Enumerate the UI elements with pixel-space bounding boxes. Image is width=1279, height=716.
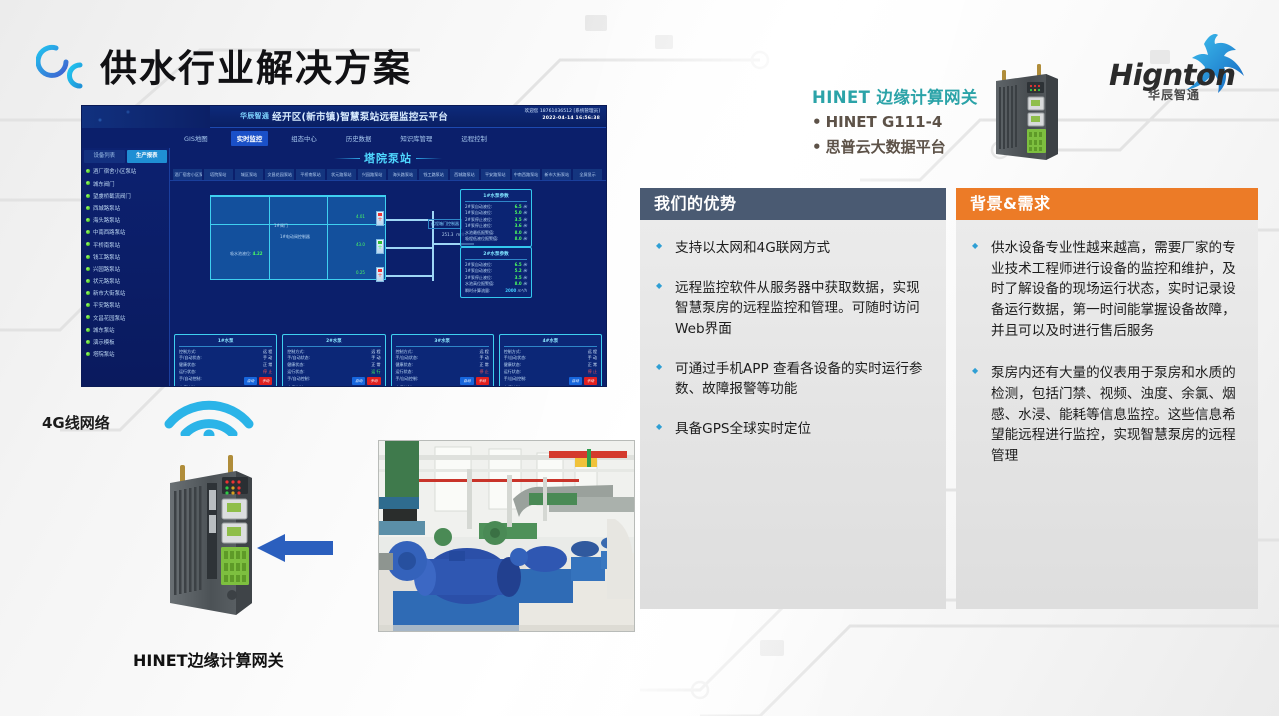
tank-gridline <box>327 196 328 279</box>
ctrl-label: 启停控制: <box>179 385 196 386</box>
auto-button[interactable]: 自动 <box>460 377 473 385</box>
bullet-dot-icon: • <box>812 113 822 131</box>
info-unit: 米 <box>523 217 527 222</box>
pump-card-ctrl-row: 启停控制: 启动停止 <box>396 385 489 386</box>
info-row: 1#泵自动液位:5.2 米 <box>465 268 527 275</box>
pipe-segment <box>386 275 432 277</box>
pump-current-3: 0.25 <box>356 270 365 275</box>
hinet-product-block: HINET 边缘计算网关 •HINET G111-4 •思普云大数据平台 <box>812 84 1012 157</box>
scada-topbar: 华辰智通经开区(新市镇)智慧泵站远程监控云平台 欢迎您 18761036512 … <box>82 106 606 128</box>
info-unit: 米 <box>523 275 527 280</box>
row-key: 健康状态: <box>179 362 196 369</box>
advantage-text: 可通过手机APP 查看各设备的实时运行参数、故障报警等功能 <box>675 359 930 400</box>
pump-card-row: 运行状态:运 行 <box>287 369 380 376</box>
tank-level-label: 吸水池液位: 4.22 <box>230 251 263 257</box>
pump-card-ctrl-row: 手/自动控制: 自动手动 <box>287 376 380 385</box>
background-text: 泵房内还有大量的仪表用于泵房和水质的检测，包括门禁、视频、浊度、余氯、烟感、水浸… <box>991 363 1242 466</box>
station-tab[interactable]: 城区泵站 <box>235 169 265 180</box>
auto-button[interactable]: 自动 <box>352 377 365 385</box>
hignton-logo: Hignton 华辰智通 <box>1104 32 1256 106</box>
info-unit: 米 <box>523 262 527 267</box>
scada-timestamp: 2022-04-14 16:56:38 <box>542 116 600 121</box>
row-key: 运行状态: <box>179 369 196 376</box>
pump-card-row: 健康状态:正 常 <box>504 362 597 369</box>
pump-card-row: 健康状态:正 常 <box>179 362 272 369</box>
station-tab[interactable]: 文昌花园泵站 <box>265 169 295 180</box>
station-tab[interactable]: 中南西路泵站 <box>512 169 542 180</box>
row-value: 停 止 <box>263 369 272 376</box>
hinet-item-label: HINET G111-4 <box>826 113 943 131</box>
gateway-caption: HINET边缘计算网关 <box>133 647 284 671</box>
info-unit: 米 <box>523 210 527 215</box>
pump-graphic-2: + <box>376 239 384 254</box>
info-key: 吸程低液位报警值: <box>465 236 498 243</box>
pump-symbol: + <box>377 273 383 279</box>
row-key: 健康状态: <box>504 362 521 369</box>
station-tab[interactable]: 西城路泵站 <box>450 169 480 180</box>
background-bullet: 供水设备专业性越来越高，需要厂家的专业技术工程师进行设备的监控和维护，及时了解设… <box>970 238 1242 341</box>
info-unit: 米 <box>523 223 527 228</box>
advantage-bullet: 远程监控软件从服务器中获取数据，实现智慧泵房的远程监控和管理。可随时访问Web界… <box>654 278 930 340</box>
advantages-heading: 我们的优势 <box>640 188 946 220</box>
process-diagram: 吸水池液位: 4.22 1#电动阀控制器 1#阀门 + + + <box>170 181 606 293</box>
station-tab[interactable]: 海头路泵站 <box>388 169 418 180</box>
row-value: 运 行 <box>371 369 380 376</box>
sidebar-item[interactable]: 演示模板 <box>85 338 166 350</box>
sidebar-item[interactable]: 平安路泵站 <box>85 301 166 313</box>
pipe-segment <box>386 219 432 221</box>
pump-card-ctrl-row: 手/自动控制: 自动手动 <box>396 376 489 385</box>
sidebar-item[interactable]: 兴园路泵站 <box>85 265 166 277</box>
info-value: 8.0 <box>515 236 522 241</box>
tab-config[interactable]: 组态中心 <box>285 131 323 146</box>
info-card-pump2: 2#水泵参数 2#泵自动液位:6.5 米 1#泵自动液位:5.2 米 2#泵停止… <box>460 247 532 298</box>
info-card-pump1: 1#水泵参数 2#泵自动液位:6.5 米 1#泵自动液位:5.0 米 2#泵停止… <box>460 189 532 247</box>
row-key: 运行状态: <box>396 369 413 376</box>
info-row: 吸程低液位报警值:8.0 米 <box>465 236 527 243</box>
sidebar-item[interactable]: 城东阀门 <box>85 179 166 191</box>
hinet-title: HINET 边缘计算网关 <box>812 84 1012 108</box>
tank-level-key: 吸水池液位: <box>230 251 251 256</box>
info-value: 3.5 <box>515 275 522 280</box>
advantages-panel: 我们的优势 支持以太网和4G联网方式 远程监控软件从服务器中获取数据，实现智慧泵… <box>640 188 946 609</box>
pump-card-title: 1#水泵 <box>179 338 272 347</box>
pump-status-card[interactable]: 3#水泵 控制方式:远 程 手/自动状态:手 动 健康状态:正 常 运行状态:停… <box>391 334 494 386</box>
sidebar-item[interactable]: 酒厂宿舍小区泵站 <box>85 167 166 179</box>
ctrl-label: 手/自动控制: <box>287 376 310 385</box>
background-heading: 背景&需求 <box>956 188 1258 220</box>
hignton-chinese-name: 华辰智通 <box>1148 86 1200 103</box>
row-value: 正 常 <box>588 362 597 369</box>
scada-user-line: 欢迎您 18761036512 [系统管理员] <box>525 109 600 114</box>
info-key: 水池高位报警值: <box>465 281 494 288</box>
station-tab[interactable]: 状元路泵站 <box>327 169 357 180</box>
sidebar-item[interactable]: 海头路泵站 <box>85 216 166 228</box>
station-tab[interactable]: 新市大街泵站 <box>542 169 572 180</box>
advantage-bullet: 具备GPS全球实时定位 <box>654 419 930 440</box>
advantage-text: 支持以太网和4G联网方式 <box>675 238 930 259</box>
pump-card-title: 3#水泵 <box>396 338 489 347</box>
info-card-title: 2#水泵参数 <box>465 251 527 260</box>
ctrl-label: 启停控制: <box>396 385 413 386</box>
station-tab[interactable]: 塔院泵站 <box>204 169 234 180</box>
info-value: 6.5 <box>515 262 522 267</box>
station-title-wrap: 塔院泵站 <box>170 150 606 168</box>
row-key: 健康状态: <box>396 362 413 369</box>
info-value: 8.0 <box>515 281 522 286</box>
row-value: 停 止 <box>588 369 597 376</box>
info-unit: 米 <box>523 230 527 235</box>
pump-symbol: + <box>377 245 383 251</box>
pump-symbol: + <box>377 217 383 223</box>
info-unit: m³/h <box>518 288 527 293</box>
tank-level-value: 4.22 <box>253 251 263 256</box>
pump-room-illustration <box>379 441 635 632</box>
station-tab[interactable]: 平桥南泵站 <box>296 169 326 180</box>
pump-card-ctrl-row: 启停控制: 启动停止 <box>179 385 272 386</box>
advantage-text: 远程监控软件从服务器中获取数据，实现智慧泵房的远程监控和管理。可随时访问Web界… <box>675 278 930 340</box>
auto-button[interactable]: 自动 <box>244 377 257 385</box>
ctrl-label: 手/自动控制: <box>396 376 419 385</box>
sidebar-item[interactable]: 状元路泵站 <box>85 277 166 289</box>
left-arrow-icon <box>255 533 333 563</box>
row-value: 正 常 <box>371 362 380 369</box>
remote-door-controller-label: 远程箱门控制器 <box>428 219 462 229</box>
pipe-segment <box>386 247 432 249</box>
advantage-bullet: 支持以太网和4G联网方式 <box>654 238 930 259</box>
ctrl-label: 手/自动控制: <box>504 376 527 385</box>
pump-card-title: 4#水泵 <box>504 338 597 347</box>
page-title: 供水行业解决方案 <box>100 38 412 92</box>
pump-card-row: 健康状态:正 常 <box>396 362 489 369</box>
background-bullet: 泵房内还有大量的仪表用于泵房和水质的检测，包括门禁、视频、浊度、余氯、烟感、水浸… <box>970 363 1242 466</box>
bullet-dot-icon: • <box>812 138 822 156</box>
hinet-item-0: •HINET G111-4 <box>812 113 1012 131</box>
scada-brand-lead: 华辰智通 <box>240 111 269 121</box>
gateway-device-image <box>160 445 260 620</box>
ctrl-label: 手/自动控制: <box>179 376 202 385</box>
tank-gridline <box>211 224 385 225</box>
pump-card-ctrl-row: 手/自动控制: 自动手动 <box>504 376 597 385</box>
pump-graphic-3: + <box>376 267 384 282</box>
pump-card-title: 2#水泵 <box>287 338 380 347</box>
hinet-item-1: •思普云大数据平台 <box>812 136 1012 157</box>
hinet-item-label: 思普云大数据平台 <box>826 138 946 156</box>
scada-nav-tabs[interactable]: GIS地图 实时监控 组态中心 历史数据 知识库管理 远程控制 <box>178 128 598 148</box>
manual-button[interactable]: 手动 <box>584 377 597 385</box>
sidebar-item[interactable]: 塔院泵站 <box>85 350 166 362</box>
info-key: 1#泵自动液位: <box>465 210 492 217</box>
pump-room-photo <box>378 440 635 632</box>
sidebar-item[interactable]: 新市大街泵站 <box>85 289 166 301</box>
info-value: 8.0 <box>515 230 522 235</box>
sidebar-tab-device-list[interactable]: 设备列表 <box>84 150 125 163</box>
auto-button[interactable]: 自动 <box>569 377 582 385</box>
sidebar-item[interactable]: 望虞桥截流阀门 <box>85 191 166 203</box>
pump-status-card[interactable]: 1#水泵 控制方式:远 程 手/自动状态:手 动 健康状态:正 常 运行状态:停… <box>174 334 277 386</box>
info-key: 瞬时计算流量: <box>465 288 490 295</box>
sidebar-item[interactable]: 西城路泵站 <box>85 204 166 216</box>
pump-status-card[interactable]: 2#水泵 控制方式:远 程 手/自动状态:手 动 健康状态:正 常 运行状态:运… <box>282 334 385 386</box>
sidebar-item[interactable]: 文昌花园泵站 <box>85 313 166 325</box>
tab-remote[interactable]: 远程控制 <box>455 131 493 146</box>
sidebar-item[interactable]: 城东泵站 <box>85 325 166 337</box>
scada-title-text: 经开区(新市镇)智慧泵站远程监控云平台 <box>272 112 448 123</box>
total-flow-value: 251.3 <box>442 232 453 237</box>
pump-card-ctrl-row: 启停控制: 启动停止 <box>287 385 380 386</box>
station-tab[interactable]: 全屏显示 <box>573 169 603 180</box>
ctrl-label: 启停控制: <box>504 385 521 386</box>
tab-knowledge[interactable]: 知识库管理 <box>394 131 438 146</box>
station-tab[interactable]: 酒厂宿舍小区泵站 <box>173 169 203 180</box>
network-label: 4G线网络 <box>42 412 110 433</box>
info-unit: 米 <box>523 236 527 241</box>
scada-dashboard-screenshot: 华辰智通经开区(新市镇)智慧泵站远程监控云平台 欢迎您 18761036512 … <box>82 106 606 386</box>
sidebar-device-list[interactable]: 酒厂宿舍小区泵站 城东阀门 望虞桥截流阀门 西城路泵站 海头路泵站 中南西路泵站… <box>82 166 169 363</box>
station-tab[interactable]: 平安路泵站 <box>481 169 511 180</box>
valve-label: 1#阀门 <box>274 223 288 229</box>
background-body: 供水设备专业性越来越高，需要厂家的专业技术工程师进行设备的监控和维护，及时了解设… <box>956 220 1258 609</box>
wifi-signal-icon <box>163 390 255 436</box>
info-row: 水池高位报警值:8.0 米 <box>465 281 527 288</box>
station-title: 塔院泵站 <box>334 150 442 166</box>
tank-gridline <box>269 196 270 279</box>
tab-realtime[interactable]: 实时监控 <box>231 131 269 146</box>
info-row: 1#泵停止液位:3.6 米 <box>465 223 527 230</box>
row-key: 运行状态: <box>287 369 304 376</box>
pump-card-row: 健康状态:正 常 <box>287 362 380 369</box>
info-key: 1#泵停止液位: <box>465 223 492 230</box>
info-value: 5.0 <box>515 210 522 215</box>
row-key: 健康状态: <box>287 362 304 369</box>
sidebar-item[interactable]: 平桥南泵站 <box>85 240 166 252</box>
pump-current-1: 4.01 <box>356 214 365 219</box>
motor-ctrl-label: 1#电动阀控制器 <box>280 234 310 240</box>
pump-status-cards: 1#水泵 控制方式:远 程 手/自动状态:手 动 健康状态:正 常 运行状态:停… <box>174 334 602 386</box>
background-panel: 背景&需求 供水设备专业性越来越高，需要厂家的专业技术工程师进行设备的监控和维护… <box>956 188 1258 609</box>
pump-graphic-1: + <box>376 211 384 226</box>
station-tab[interactable]: 钱工路泵站 <box>419 169 449 180</box>
manual-button[interactable]: 手动 <box>476 377 489 385</box>
pump-card-row: 运行状态:停 止 <box>179 369 272 376</box>
gateway-device-image-small <box>986 57 1064 162</box>
pump-card-row: 运行状态:停 止 <box>504 369 597 376</box>
scada-main-area: 塔院泵站 酒厂宿舍小区泵站 塔院泵站 城区泵站 文昌花园泵站 平桥南泵站 状元路… <box>170 148 606 386</box>
scada-sidebar: 设备列表 生产报表 酒厂宿舍小区泵站 城东阀门 望虞桥截流阀门 西城路泵站 海头… <box>82 148 170 386</box>
tank-gridline <box>211 196 385 197</box>
info-value: 5.2 <box>515 268 522 273</box>
row-value: 正 常 <box>263 362 272 369</box>
info-value: 3.6 <box>515 223 522 228</box>
info-value: 2000 <box>505 288 516 293</box>
tab-history[interactable]: 历史数据 <box>340 131 378 146</box>
interlocking-circles-logo-icon <box>36 42 94 94</box>
pump-current-2: 43.0 <box>356 242 365 247</box>
advantage-bullet: 可通过手机APP 查看各设备的实时运行参数、故障报警等功能 <box>654 359 930 400</box>
info-value: 3.5 <box>515 217 522 222</box>
info-card-title: 1#水泵参数 <box>465 193 527 202</box>
advantage-text: 具备GPS全球实时定位 <box>675 419 930 440</box>
ctrl-label: 启停控制: <box>287 385 304 386</box>
station-tab[interactable]: 兴园路泵站 <box>358 169 388 180</box>
info-unit: 米 <box>523 268 527 273</box>
station-tab-row[interactable]: 酒厂宿舍小区泵站 塔院泵站 城区泵站 文昌花园泵站 平桥南泵站 状元路泵站 兴园… <box>170 169 606 181</box>
sidebar-item[interactable]: 中南西路泵站 <box>85 228 166 240</box>
row-key: 运行状态: <box>504 369 521 376</box>
info-value: 6.5 <box>515 204 522 209</box>
sidebar-tabs[interactable]: 设备列表 生产报表 <box>84 150 167 163</box>
pump-status-card[interactable]: 4#水泵 控制方式:远 程 手/自动状态:手 动 健康状态:正 常 运行状态:停… <box>499 334 602 386</box>
tab-gis-map[interactable]: GIS地图 <box>178 131 214 146</box>
background-text: 供水设备专业性越来越高，需要厂家的专业技术工程师进行设备的监控和维护，及时了解设… <box>991 238 1242 341</box>
info-unit: 米 <box>523 281 527 286</box>
pump-card-row: 运行状态:停 止 <box>396 369 489 376</box>
pump-card-ctrl-row: 手/自动控制: 自动手动 <box>179 376 272 385</box>
sidebar-item[interactable]: 钱工路泵站 <box>85 252 166 264</box>
info-key: 1#泵自动液位: <box>465 268 492 275</box>
pump-card-ctrl-row: 启停控制: 启动停止 <box>504 385 597 386</box>
sidebar-tab-reports[interactable]: 生产报表 <box>127 150 168 163</box>
row-value: 停 止 <box>479 369 488 376</box>
info-row: 瞬时计算流量:2000 m³/h <box>465 288 527 295</box>
manual-button[interactable]: 手动 <box>367 377 380 385</box>
scada-user-info: 欢迎您 18761036512 [系统管理员] 2022-04-14 16:56… <box>525 108 600 122</box>
page-header: 供水行业解决方案 HINET 边缘计算网关 •HINET G111-4 •思普云… <box>0 0 1279 108</box>
info-row: 1#泵自动液位:5.0 米 <box>465 210 527 217</box>
row-value: 正 常 <box>479 362 488 369</box>
advantages-body: 支持以太网和4G联网方式 远程监控软件从服务器中获取数据，实现智慧泵房的远程监控… <box>640 220 946 609</box>
manual-button[interactable]: 手动 <box>259 377 272 385</box>
info-unit: 米 <box>523 204 527 209</box>
